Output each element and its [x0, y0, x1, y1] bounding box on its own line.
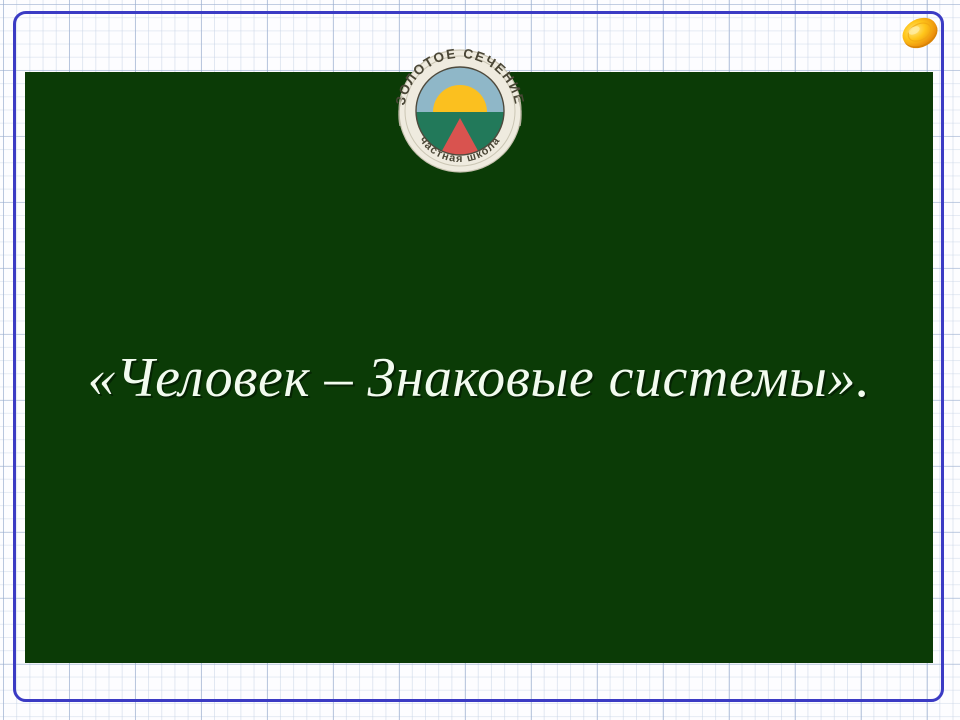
slide-title-container: «Человек – Знаковые системы». — [25, 330, 933, 426]
gold-coin-icon — [896, 9, 944, 57]
page-title: «Человек – Знаковые системы». — [88, 349, 871, 408]
slide: ЗОЛОТОЕ СЕЧЕНИЕ частная школа — [0, 0, 960, 720]
school-emblem-logo: ЗОЛОТОЕ СЕЧЕНИЕ частная школа — [382, 48, 538, 174]
